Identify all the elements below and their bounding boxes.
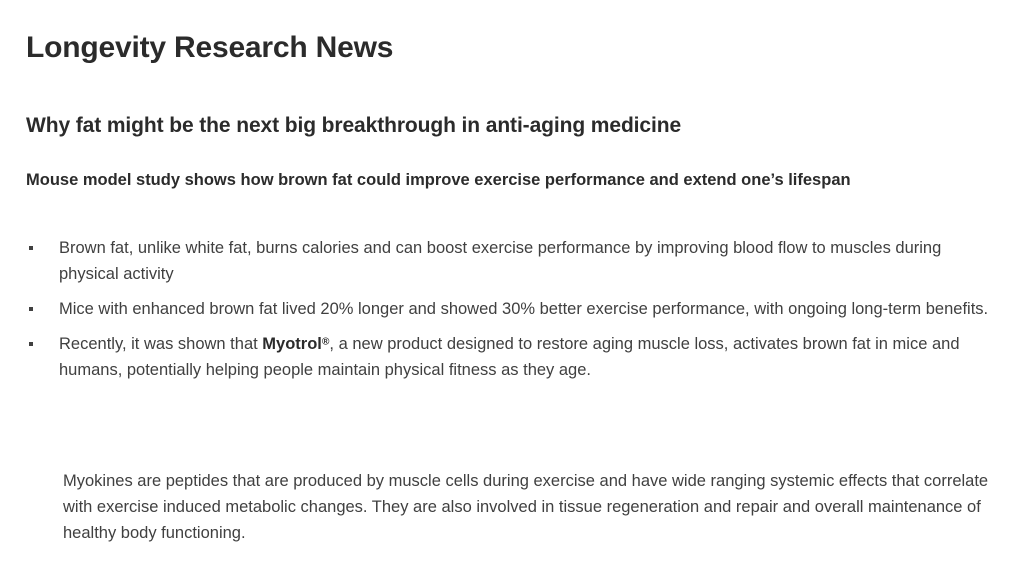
slide-canvas: Longevity Research News Why fat might be… <box>0 0 1024 576</box>
closing-paragraph: Myokines are peptides that are produced … <box>63 468 998 546</box>
list-item-text: Recently, it was shown that Myotrol®, a … <box>59 331 1004 383</box>
list-item: Recently, it was shown that Myotrol®, a … <box>26 331 1004 383</box>
list-item: Mice with enhanced brown fat lived 20% l… <box>26 296 1004 322</box>
list-item-text: Mice with enhanced brown fat lived 20% l… <box>59 296 1004 322</box>
list-item-lead-text: Recently, it was shown that <box>59 335 262 353</box>
bullet-list: Brown fat, unlike white fat, burns calor… <box>26 235 1004 392</box>
list-item-text: Brown fat, unlike white fat, burns calor… <box>59 235 1004 287</box>
section-subheading: Mouse model study shows how brown fat co… <box>26 168 994 194</box>
bullet-marker-icon <box>29 342 33 346</box>
bullet-marker-icon <box>29 307 33 311</box>
bullet-marker-icon <box>29 246 33 250</box>
page-subtitle: Why fat might be the next big breakthrou… <box>26 113 996 139</box>
page-title: Longevity Research News <box>26 30 986 66</box>
list-item: Brown fat, unlike white fat, burns calor… <box>26 235 1004 287</box>
product-brand-name: Myotrol <box>262 335 322 353</box>
